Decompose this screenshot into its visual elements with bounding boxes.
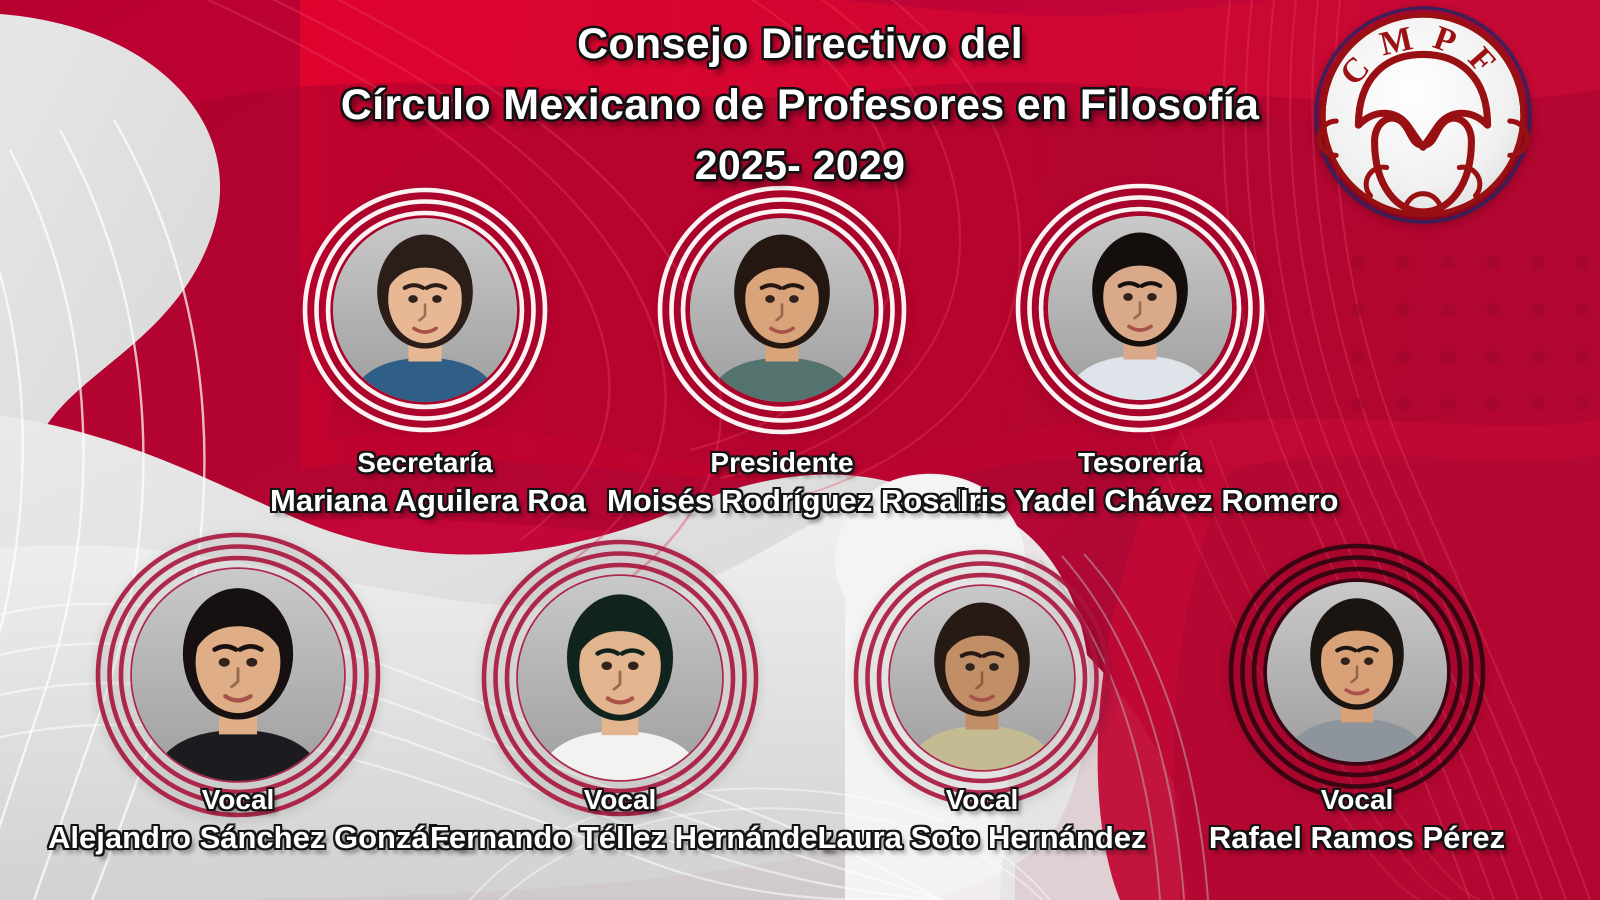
member-card-5[interactable] xyxy=(480,538,760,818)
member-name: Moisés Rodríguez Rosales xyxy=(607,479,957,523)
portrait-fernando-tellez-hernandez xyxy=(518,576,722,780)
page-title: Consejo Directivo del Círculo Mexicano d… xyxy=(300,14,1300,194)
member-card-3[interactable] xyxy=(1014,182,1266,434)
member-role: Vocal xyxy=(48,785,428,816)
member-caption-7: VocalRafael Ramos Pérez xyxy=(1192,785,1522,860)
portrait-alejandro-sanchez-gonzalez xyxy=(132,569,344,781)
member-role: Presidente xyxy=(607,448,957,479)
portrait-moises-rodriguez-rosales xyxy=(690,218,874,402)
member-caption-6: VocalLaura Soto Hernández xyxy=(817,785,1147,860)
concentric-rings-decoration xyxy=(656,184,908,436)
poster-canvas: CMPF Consejo Directivo del Círculo Mexic… xyxy=(0,0,1600,900)
member-role: Vocal xyxy=(1192,785,1522,816)
member-caption-4: VocalAlejandro Sánchez González xyxy=(48,785,428,860)
member-name: Fernando Téllez Hernández xyxy=(430,816,810,860)
portrait-moises-rodriguez-rosales xyxy=(690,218,874,402)
member-card-1[interactable] xyxy=(301,186,549,434)
portrait-fernando-tellez-hernandez xyxy=(518,576,722,780)
title-line-2: Círculo Mexicano de Profesores en Filoso… xyxy=(300,75,1300,136)
portrait-rafael-ramos-perez xyxy=(1267,582,1447,762)
portrait-laura-soto-hernandez xyxy=(890,586,1074,770)
concentric-rings-decoration xyxy=(301,186,549,434)
concentric-rings-decoration xyxy=(480,538,760,818)
portrait-alejandro-sanchez-gonzalez xyxy=(132,569,344,781)
concentric-rings-decoration xyxy=(1014,182,1266,434)
member-card-6[interactable] xyxy=(852,548,1112,808)
member-name: Mariana Aguilera Roa xyxy=(270,479,580,523)
member-card-4[interactable] xyxy=(94,531,382,819)
member-caption-3: TesoreríaIris Yadel Chávez Romero xyxy=(960,448,1320,523)
member-card-7[interactable] xyxy=(1227,542,1487,802)
portrait-mariana-aguilera-roa xyxy=(333,218,517,402)
member-role: Tesorería xyxy=(960,448,1320,479)
portrait-iris-yadel-chavez-romero xyxy=(1048,216,1232,400)
member-name: Laura Soto Hernández xyxy=(817,816,1147,860)
member-caption-2: PresidenteMoisés Rodríguez Rosales xyxy=(607,448,957,523)
title-line-3: 2025- 2029 xyxy=(300,136,1300,194)
cmpf-logo: CMPF xyxy=(1312,4,1534,226)
portrait-iris-yadel-chavez-romero xyxy=(1048,216,1232,400)
concentric-rings-decoration xyxy=(1227,542,1487,802)
member-caption-5: VocalFernando Téllez Hernández xyxy=(430,785,810,860)
member-name: Iris Yadel Chávez Romero xyxy=(960,479,1320,523)
portrait-laura-soto-hernandez xyxy=(890,586,1074,770)
concentric-rings-decoration xyxy=(94,531,382,819)
member-name: Rafael Ramos Pérez xyxy=(1192,816,1522,860)
member-role: Vocal xyxy=(817,785,1147,816)
member-name: Alejandro Sánchez González xyxy=(48,816,428,860)
member-card-2[interactable] xyxy=(656,184,908,436)
cmpf-logo-icon: CMPF xyxy=(1312,4,1534,226)
portrait-rafael-ramos-perez xyxy=(1267,582,1447,762)
member-role: Secretaría xyxy=(270,448,580,479)
member-caption-1: SecretaríaMariana Aguilera Roa xyxy=(270,448,580,523)
concentric-rings-decoration xyxy=(852,548,1112,808)
portrait-mariana-aguilera-roa xyxy=(333,218,517,402)
title-line-1: Consejo Directivo del xyxy=(300,14,1300,75)
member-role: Vocal xyxy=(430,785,810,816)
